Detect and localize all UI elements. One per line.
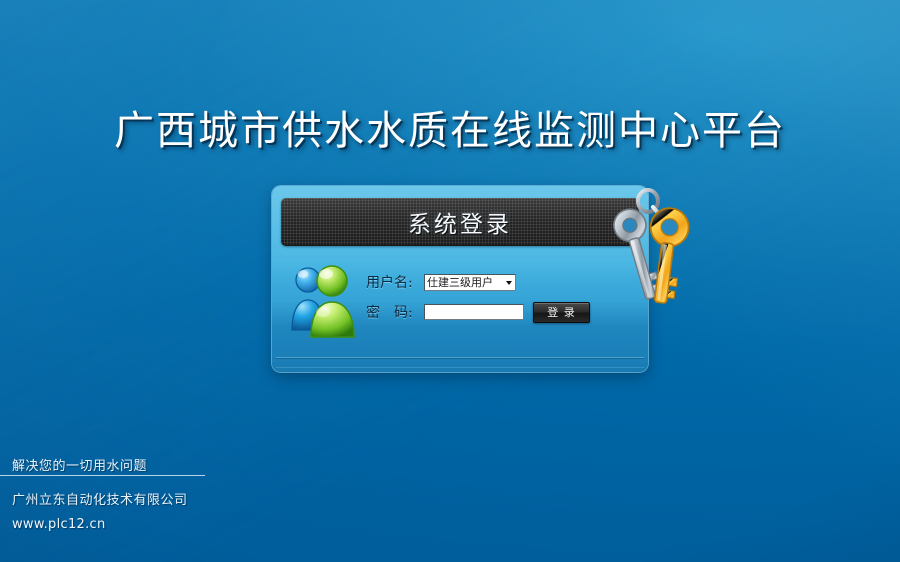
- username-label: 用户名:: [366, 272, 424, 292]
- login-panel-title: 系统登录: [408, 205, 512, 239]
- footer: 解决您的一切用水问题 广州立东自动化技术有限公司 www.plc12.cn: [12, 455, 312, 532]
- footer-company: 广州立东自动化技术有限公司: [12, 489, 312, 508]
- username-select-value: 仕建三级用户: [427, 274, 493, 290]
- footer-url[interactable]: www.plc12.cn: [12, 517, 312, 532]
- login-button[interactable]: 登 录: [533, 302, 590, 323]
- footer-divider: [0, 475, 205, 476]
- login-screen: 广西城市供水水质在线监测中心平台 系统登录: [0, 0, 900, 562]
- password-label: 密 码:: [366, 302, 424, 322]
- username-row: 用户名: 仕建三级用户: [366, 270, 590, 294]
- login-panel-header: 系统登录: [281, 198, 639, 246]
- login-panel: 系统登录: [272, 186, 648, 372]
- footer-slogan: 解决您的一切用水问题: [12, 455, 312, 477]
- password-input[interactable]: [424, 304, 524, 320]
- username-select[interactable]: 仕建三级用户: [424, 274, 516, 291]
- login-fields: 用户名: 仕建三级用户 密 码: 登 录: [366, 270, 590, 330]
- password-row: 密 码: 登 录: [366, 300, 590, 324]
- login-form: 用户名: 仕建三级用户 密 码: 登 录: [288, 258, 638, 350]
- chevron-down-icon: [506, 281, 512, 285]
- page-title: 广西城市供水水质在线监测中心平台: [0, 98, 900, 156]
- panel-divider: [276, 357, 644, 358]
- users-avatar-icon: [288, 260, 362, 338]
- panel-divider-lower: [276, 367, 644, 368]
